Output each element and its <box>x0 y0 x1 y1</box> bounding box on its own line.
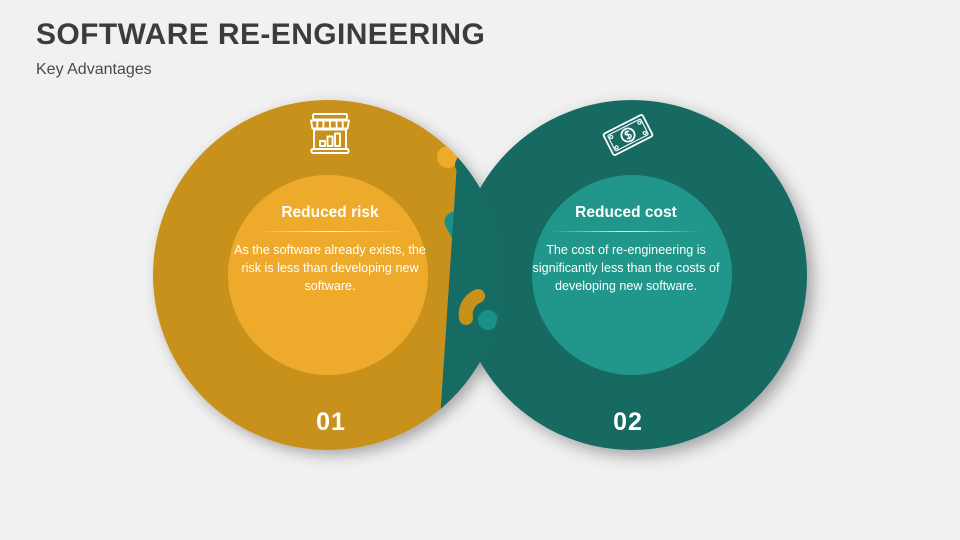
card-number-02: 02 <box>568 408 688 437</box>
icon-container-01 <box>300 108 360 158</box>
card-content-02: Reduced cost The cost of re-engineering … <box>524 204 728 295</box>
card-divider-01 <box>255 231 405 232</box>
card-title-01: Reduced risk <box>228 204 432 222</box>
diagram-svg <box>0 0 960 540</box>
icon-container-02 <box>598 110 658 160</box>
slide-canvas: SOFTWARE RE-ENGINEERING Key Advantages <box>0 0 960 540</box>
banknote-dollar-icon <box>598 110 658 160</box>
accent-dot-teal <box>478 310 498 330</box>
venn-diagram <box>0 0 960 540</box>
card-body-01: As the software already exists, the risk… <box>228 242 432 296</box>
card-body-02: The cost of re-engineering is significan… <box>524 242 728 296</box>
card-number-01: 01 <box>271 408 391 437</box>
card-title-02: Reduced cost <box>524 204 728 222</box>
card-content-01: Reduced risk As the software already exi… <box>228 204 432 295</box>
card-divider-02 <box>551 231 701 232</box>
storefront-chart-icon <box>300 108 360 158</box>
